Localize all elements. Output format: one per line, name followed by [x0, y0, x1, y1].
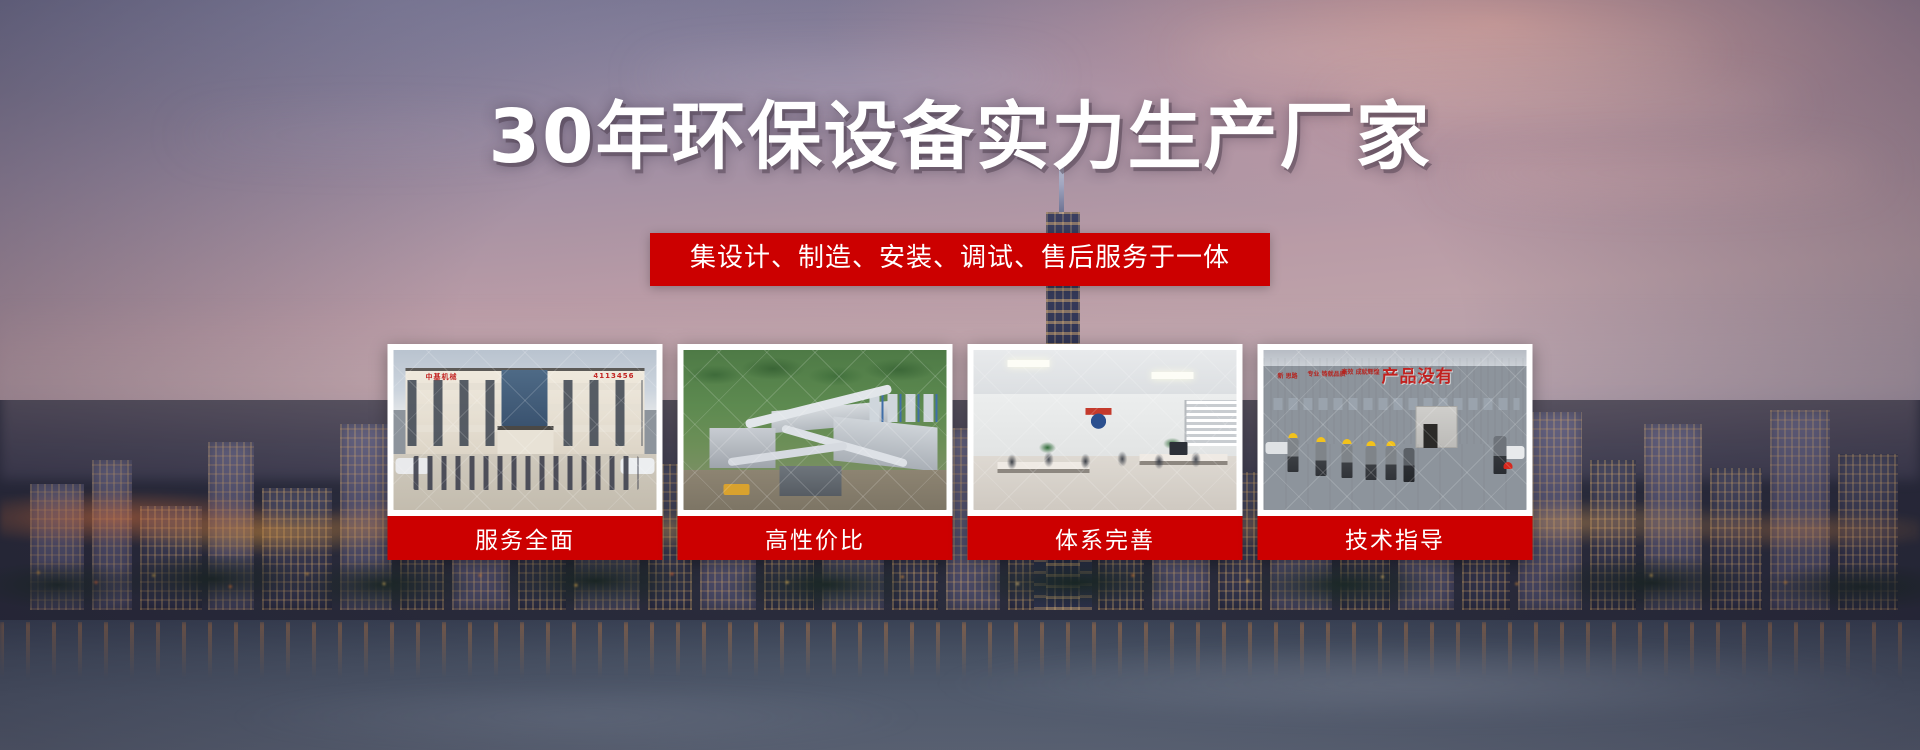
- card-photo-factory-aerial: [684, 350, 947, 510]
- feature-card-list: 中基机械 4113456 服务全面: [388, 344, 1533, 560]
- photo-wall-logo: [1086, 408, 1112, 430]
- banner-content: 30年环保设备实力生产厂家 集设计、制造、安装、调试、售后服务于一体 中基机械 …: [0, 0, 1920, 750]
- photo-window-blinds: [1185, 400, 1237, 446]
- hard-hat-icon: [1367, 441, 1376, 446]
- hard-hat-icon: [1343, 439, 1352, 444]
- photo-wall-small-text: 高效 成就辉煌: [1342, 368, 1380, 377]
- photo-phone-number-text: 4113456: [593, 372, 634, 380]
- photo-worker: [1288, 438, 1299, 472]
- photo-staff-row: [414, 456, 639, 490]
- card-label: 体系完善: [968, 516, 1243, 560]
- photo-loader-truck: [724, 484, 750, 495]
- feature-card[interactable]: 中基机械 4113456 服务全面: [388, 344, 663, 560]
- red-helmet-icon: [1504, 462, 1513, 469]
- hero-banner: 30年环保设备实力生产厂家 集设计、制造、安装、调试、售后服务于一体 中基机械 …: [0, 0, 1920, 750]
- hard-hat-icon: [1317, 437, 1326, 442]
- photo-worker: [1404, 448, 1415, 482]
- hard-hat-icon: [1289, 433, 1298, 438]
- photo-worker: [1316, 442, 1327, 476]
- card-label: 高性价比: [678, 516, 953, 560]
- feature-card[interactable]: 高性价比: [678, 344, 953, 560]
- feature-card[interactable]: 体系完善: [968, 344, 1243, 560]
- banner-headline: 30年环保设备实力生产厂家: [0, 100, 1920, 174]
- feature-card[interactable]: 产品没有 新 思路 专业 铸就品质 高效 成就辉煌: [1258, 344, 1533, 560]
- photo-worker: [1366, 446, 1377, 480]
- hard-hat-icon: [1387, 441, 1396, 446]
- photo-ceiling: [974, 350, 1237, 394]
- photo-loading-shed: [780, 466, 842, 496]
- banner-subtitle-bar: 集设计、制造、安装、调试、售后服务于一体: [650, 233, 1270, 286]
- photo-entrance-portico: [498, 426, 554, 454]
- photo-window-row: [1274, 398, 1520, 410]
- photo-wall-slogan-text: 产品没有: [1382, 362, 1454, 387]
- photo-wall-small-text: 专业 铸就品质: [1308, 370, 1346, 379]
- photo-storage-silos: [870, 394, 940, 422]
- photo-wall-small-text: 新 思路: [1278, 372, 1298, 381]
- photo-ceiling-light: [1008, 360, 1050, 367]
- card-label: 服务全面: [388, 516, 663, 560]
- card-photo-workshop-workers: 产品没有 新 思路 专业 铸就品质 高效 成就辉煌: [1264, 350, 1527, 510]
- card-label: 技术指导: [1258, 516, 1533, 560]
- photo-worker: [1386, 446, 1397, 480]
- photo-ceiling-light: [1152, 372, 1194, 379]
- photo-office-staff: [994, 444, 1224, 474]
- photo-worker: [1342, 444, 1353, 478]
- card-photo-office-interior: [974, 350, 1237, 510]
- photo-company-sign-text: 中基机械: [426, 372, 458, 382]
- card-photo-headquarters: 中基机械 4113456: [394, 350, 657, 510]
